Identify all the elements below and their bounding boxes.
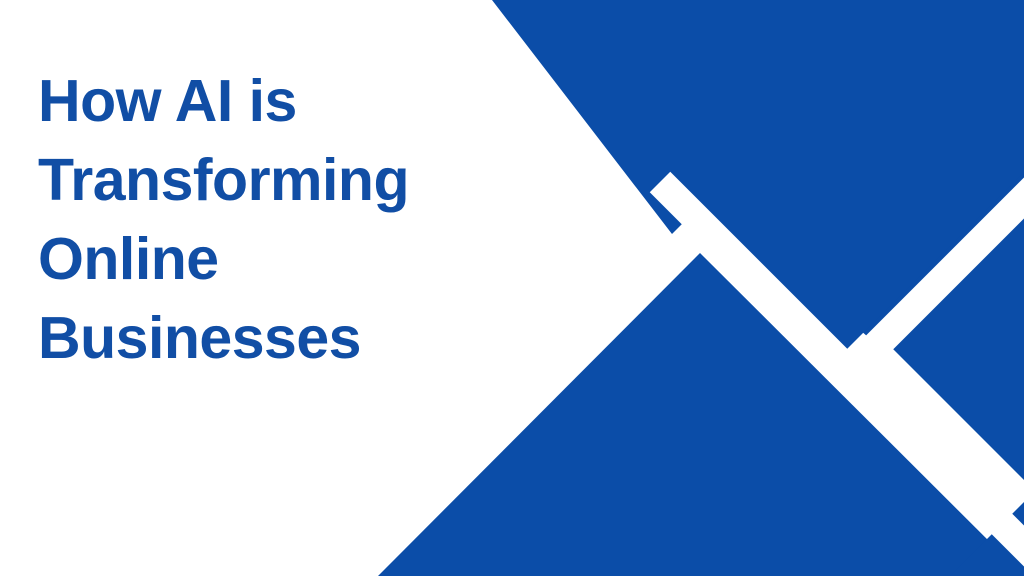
title-block: How AI is Transforming Online Businesses — [38, 62, 558, 378]
slide-canvas: How AI is Transforming Online Businesses — [0, 0, 1024, 576]
page-title: How AI is Transforming Online Businesses — [38, 62, 558, 378]
